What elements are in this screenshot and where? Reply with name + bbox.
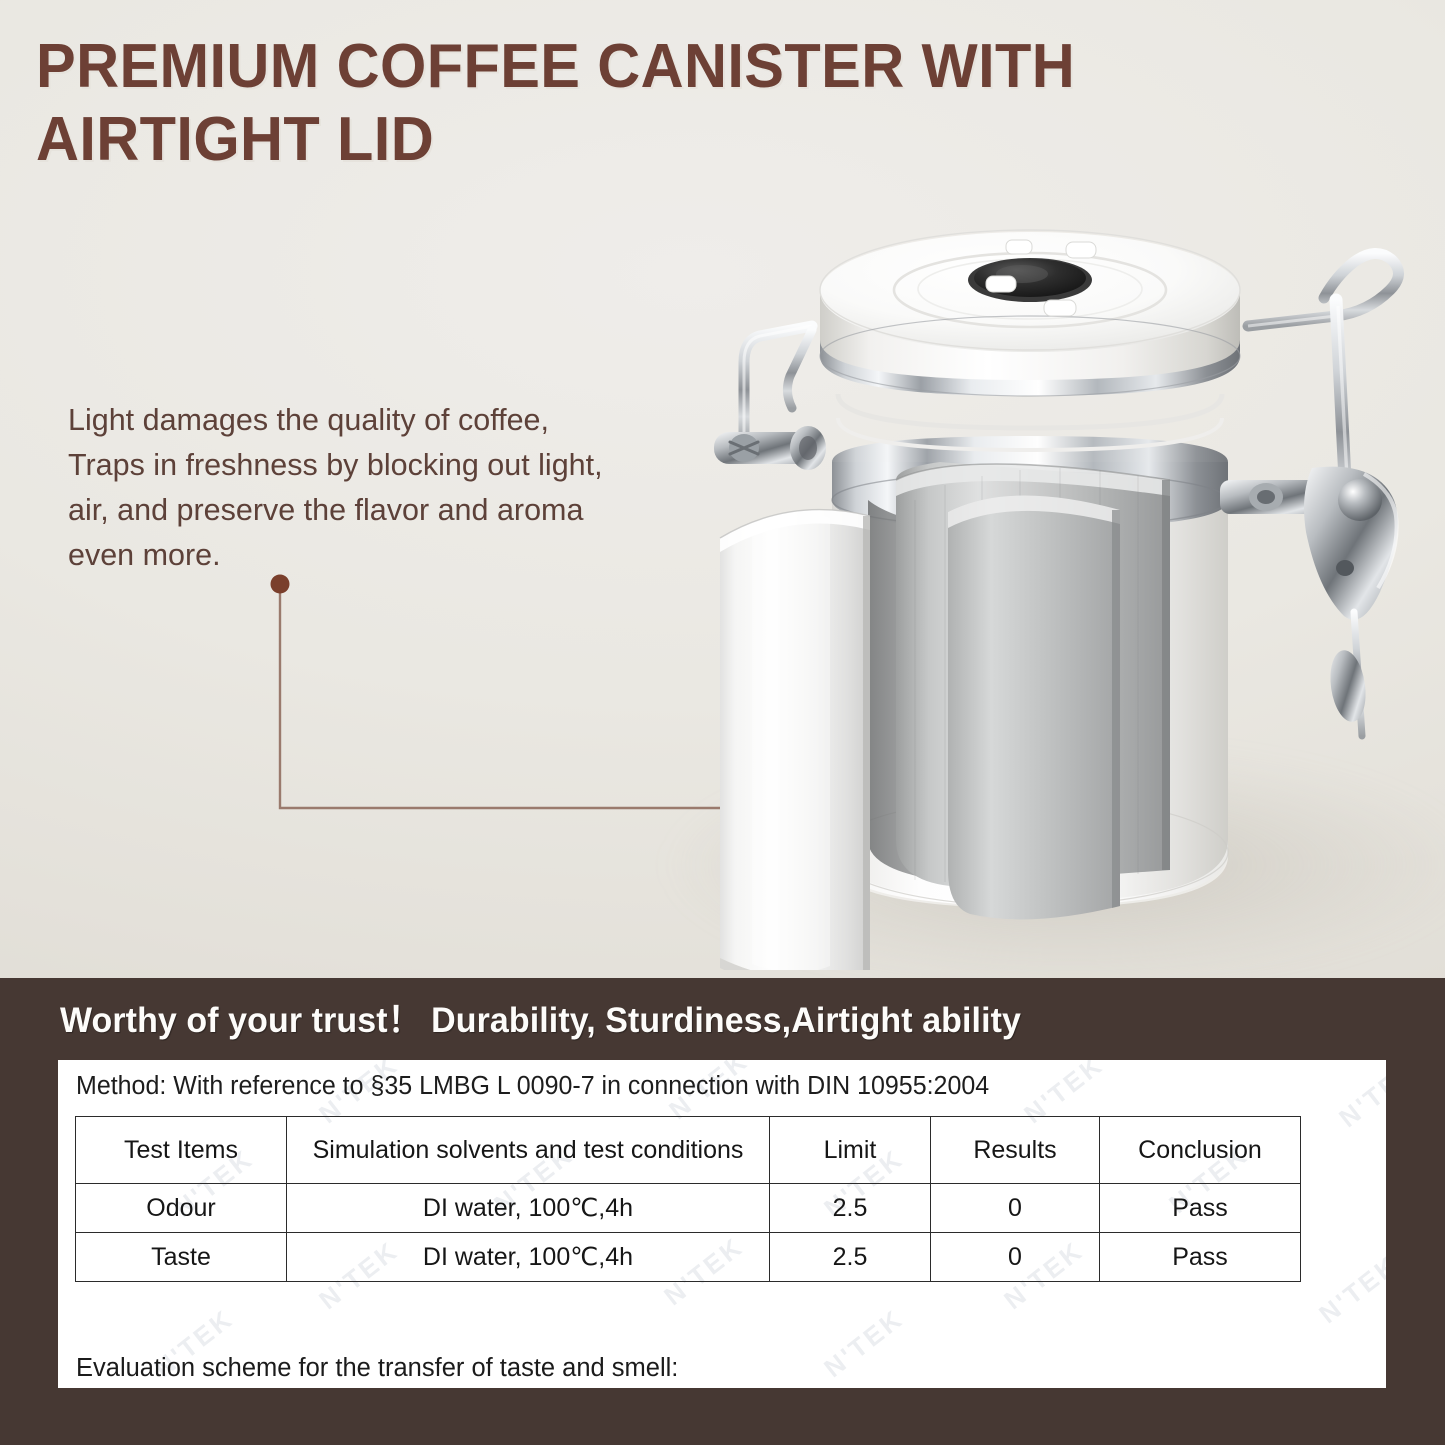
product-infographic: PREMIUM COFFEE CANISTER WITH AIRTIGHT LI… xyxy=(0,0,1445,1445)
column-header-test-items: Test Items xyxy=(76,1117,287,1184)
canister-inner-liner xyxy=(948,495,1120,919)
method-reference-line: Method: With reference to §35 LMBG L 009… xyxy=(76,1072,989,1101)
cell-results: 0 xyxy=(931,1184,1100,1233)
left-clamp-bracket xyxy=(714,426,826,470)
cell-conditions: DI water, 100℃,4h xyxy=(287,1233,770,1282)
canister-lid xyxy=(820,230,1240,450)
cell-limit: 2.5 xyxy=(770,1233,931,1282)
cell-test-item: Odour xyxy=(76,1184,287,1233)
cell-limit: 2.5 xyxy=(770,1184,931,1233)
watermark: N'TEK xyxy=(818,1303,910,1384)
table-header-row: Test Items Simulation solvents and test … xyxy=(76,1117,1301,1184)
column-header-limit: Limit xyxy=(770,1117,931,1184)
test-report-card: N'TEK N'TEK N'TEK N'TEK N'TEK N'TEK N'TE… xyxy=(58,1060,1386,1388)
trust-section: Worthy of your trust！ Durability, Sturdi… xyxy=(0,978,1445,1445)
cell-test-item: Taste xyxy=(76,1233,287,1282)
trust-heading: Worthy of your trust！ Durability, Sturdi… xyxy=(60,992,1021,1043)
column-header-results: Results xyxy=(931,1117,1100,1184)
table-row: Taste DI water, 100℃,4h 2.5 0 Pass xyxy=(76,1233,1301,1282)
hero-section: PREMIUM COFFEE CANISTER WITH AIRTIGHT LI… xyxy=(0,0,1445,978)
cell-conditions: DI water, 100℃,4h xyxy=(287,1184,770,1233)
evaluation-scheme-line: Evaluation scheme for the transfer of ta… xyxy=(76,1354,678,1383)
left-bail-clamp xyxy=(714,326,826,470)
coffee-canister-illustration xyxy=(700,180,1445,970)
column-header-conclusion: Conclusion xyxy=(1100,1117,1301,1184)
right-clamp-lever xyxy=(1304,467,1398,736)
table-row: Odour DI water, 100℃,4h 2.5 0 Pass xyxy=(76,1184,1301,1233)
test-results-table: Test Items Simulation solvents and test … xyxy=(75,1116,1301,1282)
watermark: N'TEK xyxy=(1333,1060,1386,1134)
cell-conclusion: Pass xyxy=(1100,1184,1301,1233)
page-title: PREMIUM COFFEE CANISTER WITH AIRTIGHT LI… xyxy=(36,30,1169,176)
cell-conclusion: Pass xyxy=(1100,1233,1301,1282)
column-header-conditions: Simulation solvents and test conditions xyxy=(287,1117,770,1184)
watermark: N'TEK xyxy=(1313,1249,1386,1330)
cell-results: 0 xyxy=(931,1233,1100,1282)
right-bail-clamp xyxy=(1220,253,1399,736)
outer-shell-panel xyxy=(720,510,870,970)
feature-description: Light damages the quality of coffee, Tra… xyxy=(68,398,628,579)
